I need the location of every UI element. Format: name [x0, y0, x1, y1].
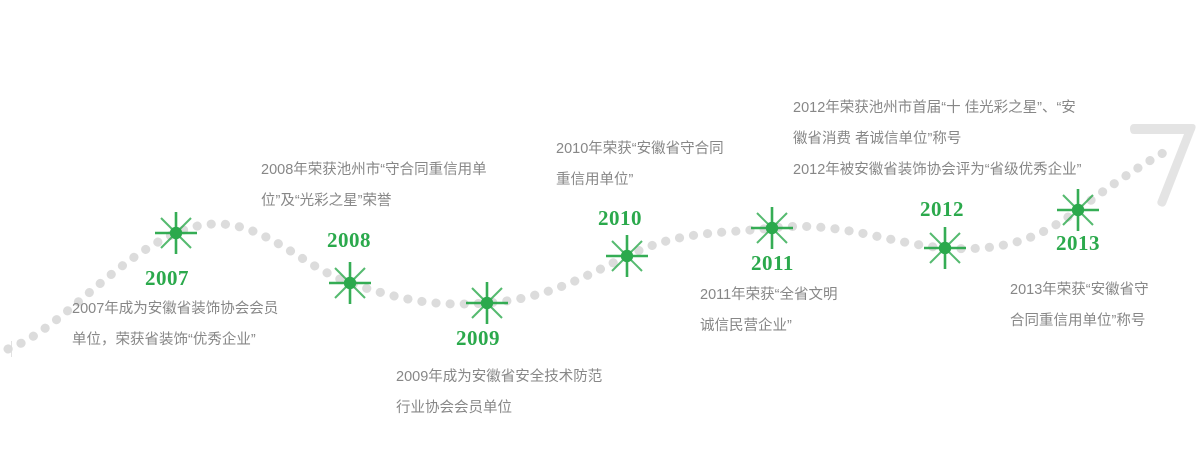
- year-label-2011[interactable]: 2011: [751, 251, 794, 276]
- milestone-description-2008: 2008年荣获池州市“守合同重信用单位”及“光彩之星”荣誉: [261, 155, 487, 217]
- milestone-star-icon-2012: [923, 226, 967, 270]
- milestone-description-2012: 2012年荣获池州市首届“十 佳光彩之星”、“安徽省消费 者诚信单位”称号201…: [793, 93, 1081, 186]
- year-label-2012[interactable]: 2012: [920, 197, 964, 222]
- description-line: 2008年荣获池州市“守合同重信用单: [261, 155, 487, 186]
- description-line: 合同重信用单位”称号: [1010, 306, 1149, 337]
- milestone-description-2009: 2009年成为安徽省安全技术防范行业协会会员单位: [396, 362, 602, 424]
- description-line: 诚信民营企业”: [700, 311, 838, 342]
- year-label-2010[interactable]: 2010: [598, 206, 642, 231]
- left-edge-tick: [11, 341, 12, 357]
- seven-shape-watermark-icon: [1130, 118, 1200, 208]
- year-label-2009[interactable]: 2009: [456, 326, 500, 351]
- milestone-description-2007: 2007年成为安徽省装饰协会会员单位，荣获省装饰“优秀企业”: [72, 294, 278, 356]
- milestone-star-icon-2009: [465, 281, 509, 325]
- milestone-description-2011: 2011年荣获“全省文明诚信民营企业”: [700, 280, 838, 342]
- description-line: 位”及“光彩之星”荣誉: [261, 186, 487, 217]
- milestone-star-icon-2008: [328, 261, 372, 305]
- honors-timeline-infographic: 20072007年成为安徽省装饰协会会员单位，荣获省装饰“优秀企业”200820…: [0, 0, 1200, 465]
- year-label-2013[interactable]: 2013: [1056, 231, 1100, 256]
- year-label-2007[interactable]: 2007: [145, 266, 189, 291]
- description-line: 2010年荣获“安徽省守合同: [556, 134, 724, 165]
- milestone-star-icon-2013: [1056, 188, 1100, 232]
- milestone-star-icon-2010: [605, 234, 649, 278]
- description-line: 徽省消费 者诚信单位”称号: [793, 124, 1081, 155]
- milestone-star-icon-2011: [750, 206, 794, 250]
- milestone-description-2013: 2013年荣获“安徽省守合同重信用单位”称号: [1010, 275, 1149, 337]
- milestone-star-icon-2007: [154, 211, 198, 255]
- description-line: 2011年荣获“全省文明: [700, 280, 838, 311]
- year-label-2008[interactable]: 2008: [327, 228, 371, 253]
- milestone-description-2010: 2010年荣获“安徽省守合同重信用单位”: [556, 134, 724, 196]
- description-line: 2012年被安徽省装饰协会评为“省级优秀企业”: [793, 155, 1081, 186]
- description-line: 行业协会会员单位: [396, 393, 602, 424]
- description-line: 2007年成为安徽省装饰协会会员: [72, 294, 278, 325]
- description-line: 2009年成为安徽省安全技术防范: [396, 362, 602, 393]
- description-line: 2012年荣获池州市首届“十 佳光彩之星”、“安: [793, 93, 1081, 124]
- description-line: 2013年荣获“安徽省守: [1010, 275, 1149, 306]
- description-line: 重信用单位”: [556, 165, 724, 196]
- description-line: 单位，荣获省装饰“优秀企业”: [72, 325, 278, 356]
